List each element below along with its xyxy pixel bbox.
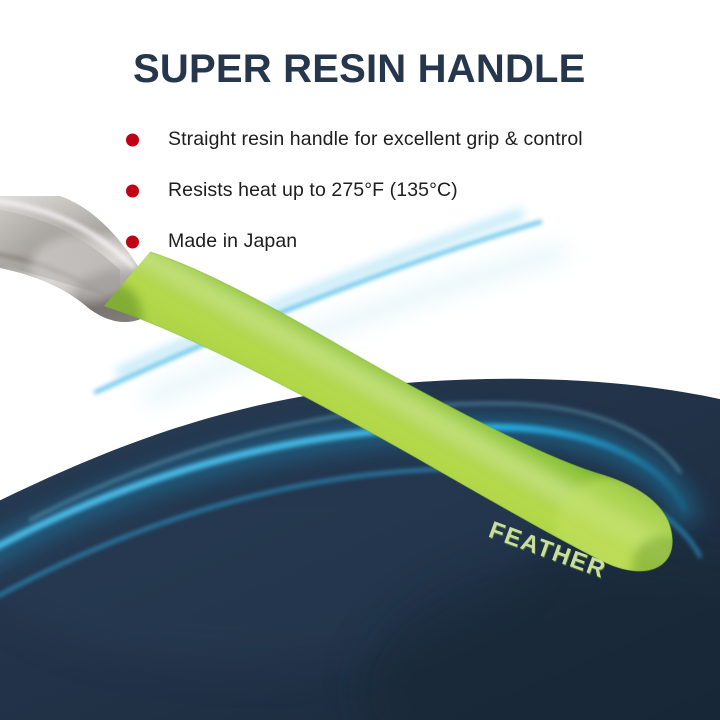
list-item: Resists heat up to 275°F (135°C) bbox=[126, 165, 706, 216]
page-title: SUPER RESIN HANDLE bbox=[133, 48, 586, 90]
red-dot-icon bbox=[126, 235, 139, 248]
list-item: Made in Japan bbox=[126, 216, 706, 267]
list-item: Straight resin handle for excellent grip… bbox=[126, 114, 706, 165]
feature-list: Straight resin handle for excellent grip… bbox=[126, 114, 706, 267]
list-item-label: Made in Japan bbox=[168, 230, 297, 253]
red-dot-icon bbox=[126, 184, 139, 197]
product-feature-graphic: FEATHER FEATHER SUPER RESIN HANDLE Strai… bbox=[0, 0, 720, 720]
red-dot-icon bbox=[126, 133, 139, 146]
list-item-label: Resists heat up to 275°F (135°C) bbox=[168, 179, 458, 202]
product-illustration: FEATHER FEATHER bbox=[0, 0, 720, 720]
list-item-label: Straight resin handle for excellent grip… bbox=[168, 128, 583, 151]
